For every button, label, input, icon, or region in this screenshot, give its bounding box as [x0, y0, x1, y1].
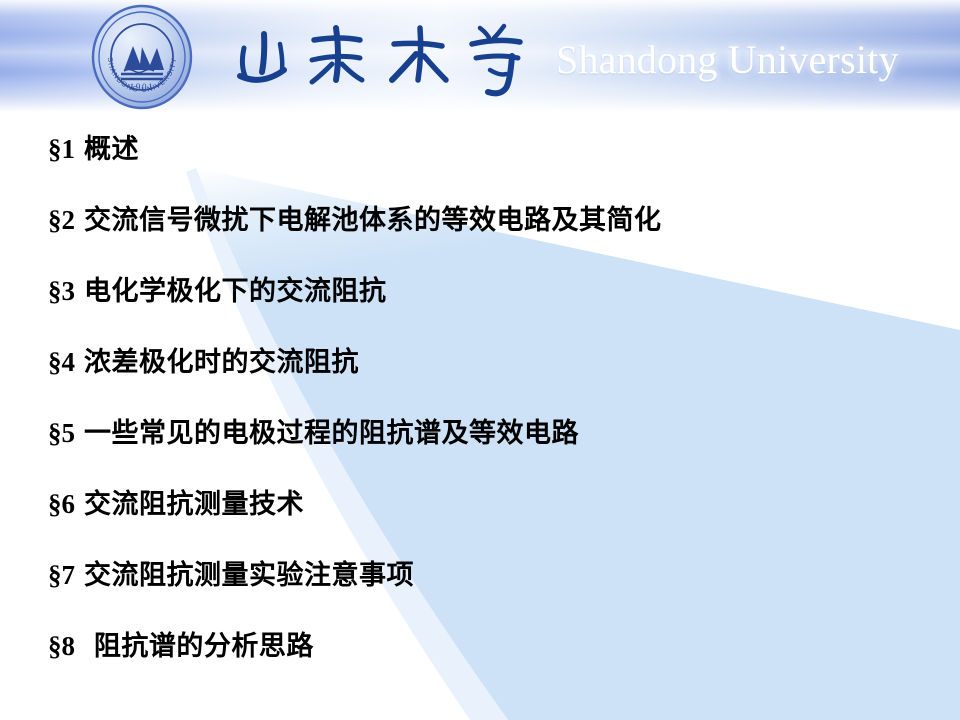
agenda-item-7: §7交流阻抗测量实验注意事项 [48, 562, 414, 589]
agenda-item-6: §6交流阻抗测量技术 [48, 491, 304, 518]
slide-root: 1901 SHANDONG UNIVERSITY [0, 0, 960, 720]
agenda-item-8-label: 阻抗谱的分析思路 [84, 631, 314, 662]
agenda-item-5-marker: §5 [48, 418, 75, 448]
agenda-item-2: §2交流信号微扰下电解池体系的等效电路及其简化 [48, 207, 662, 234]
agenda-item-8: §8 阻抗谱的分析思路 [48, 633, 314, 660]
agenda-item-6-label: 交流阻抗测量技术 [84, 489, 304, 520]
university-seal-logo: 1901 SHANDONG UNIVERSITY [88, 4, 196, 110]
agenda-item-5: §5一些常见的电极过程的阻抗谱及等效电路 [48, 420, 579, 447]
header-banner: 1901 SHANDONG UNIVERSITY [0, 0, 960, 112]
agenda-item-5-label: 一些常见的电极过程的阻抗谱及等效电路 [84, 418, 579, 449]
agenda-item-3-marker: §3 [48, 276, 75, 306]
agenda-item-2-label: 交流信号微扰下电解池体系的等效电路及其简化 [84, 205, 662, 236]
agenda-item-3: §3电化学极化下的交流阻抗 [48, 278, 387, 305]
english-university-name: Shandong University [556, 36, 899, 83]
agenda-item-4: §4浓差极化时的交流阻抗 [48, 349, 359, 376]
agenda-item-1-label: 概述 [84, 134, 139, 165]
chinese-university-name-calligraphy [228, 14, 538, 100]
agenda-item-4-label: 浓差极化时的交流阻抗 [84, 347, 359, 378]
agenda-item-7-label: 交流阻抗测量实验注意事项 [84, 560, 414, 591]
agenda-list: §1概述 §2交流信号微扰下电解池体系的等效电路及其简化 §3电化学极化下的交流… [0, 112, 960, 720]
agenda-item-6-marker: §6 [48, 489, 75, 519]
agenda-item-1-marker: §1 [48, 134, 75, 164]
agenda-item-1: §1概述 [48, 136, 139, 163]
agenda-item-3-label: 电化学极化下的交流阻抗 [84, 276, 387, 307]
agenda-item-8-marker: §8 [48, 631, 75, 661]
agenda-item-7-marker: §7 [48, 560, 75, 590]
agenda-item-4-marker: §4 [48, 347, 75, 377]
agenda-item-2-marker: §2 [48, 205, 75, 235]
